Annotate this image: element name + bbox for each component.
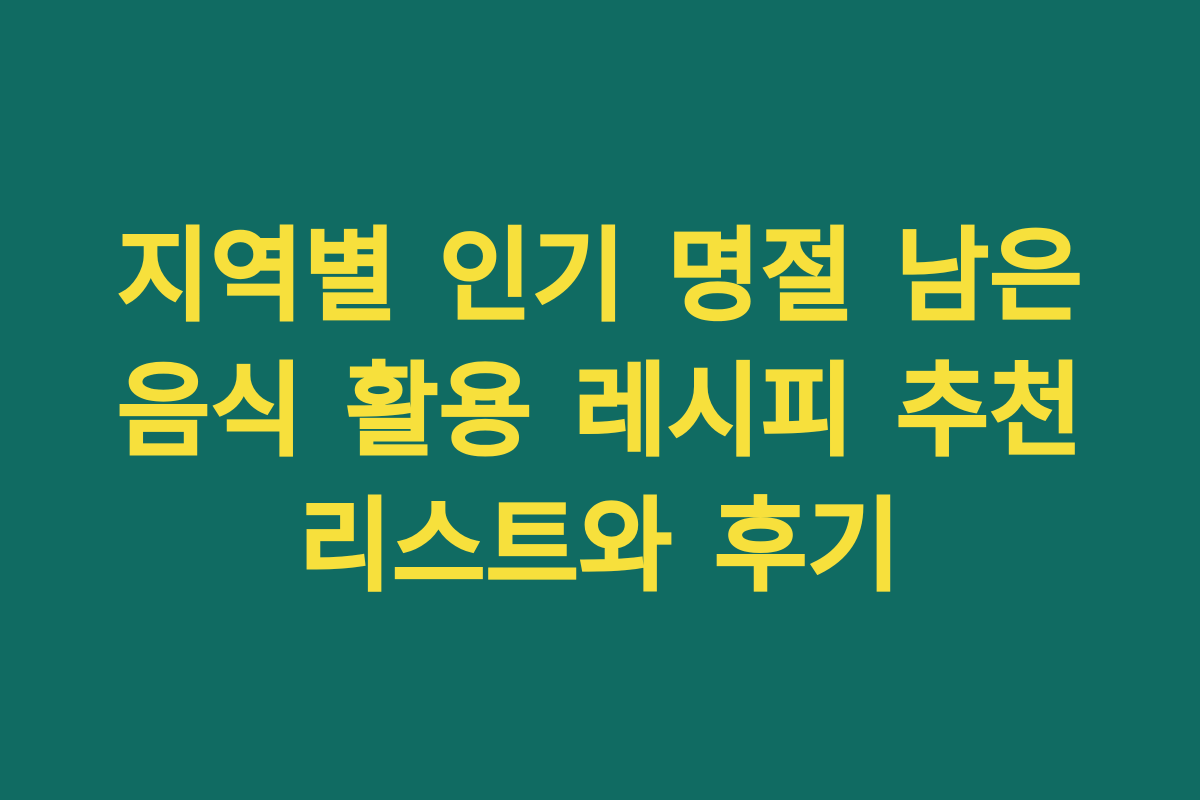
title-card: 지역별 인기 명절 남은 음식 활용 레시피 추천 리스트와 후기 <box>0 0 1200 800</box>
page-title: 지역별 인기 명절 남은 음식 활용 레시피 추천 리스트와 후기 <box>76 209 1124 614</box>
headline-container: 지역별 인기 명절 남은 음식 활용 레시피 추천 리스트와 후기 <box>76 209 1124 614</box>
